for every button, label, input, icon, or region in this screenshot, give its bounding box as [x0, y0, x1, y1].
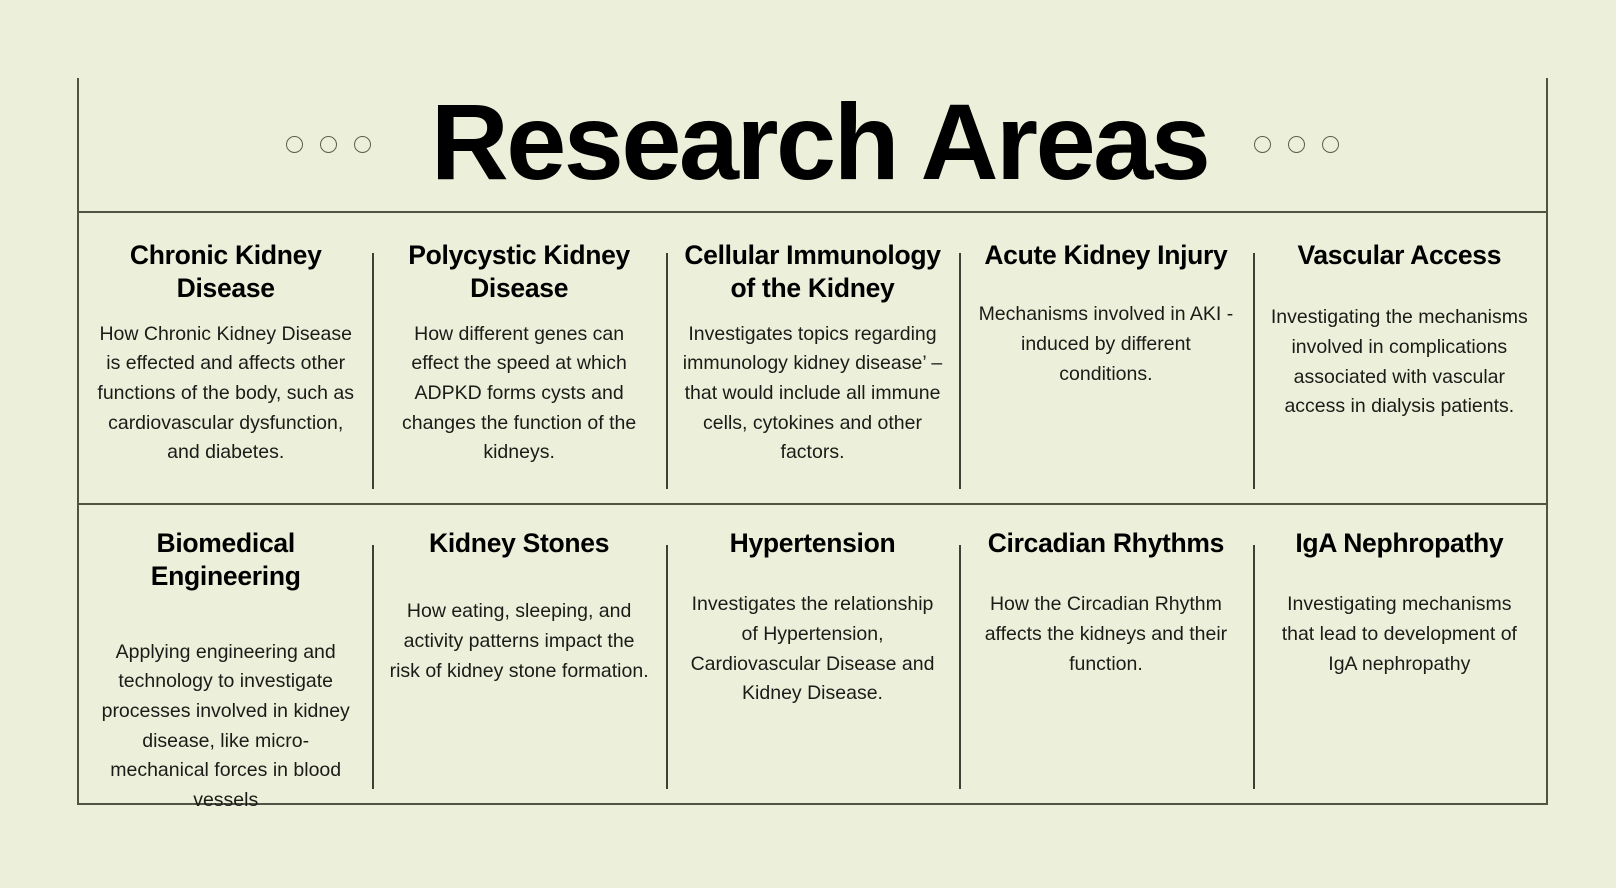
- card-description: Investigates topics regarding immunology…: [682, 320, 943, 468]
- card-title: Kidney Stones: [388, 527, 649, 560]
- card-description: Investigating mechanisms that lead to de…: [1269, 590, 1530, 679]
- card-description: Investigating the mechanisms involved in…: [1269, 303, 1530, 422]
- card-description: How the Circadian Rhythm affects the kid…: [975, 590, 1236, 679]
- research-area-row-2: Biomedical Engineering Applying engineer…: [79, 505, 1546, 803]
- research-area-card[interactable]: Cellular Immunology of the Kidney Invest…: [666, 213, 959, 503]
- circle-icon: [1322, 136, 1339, 153]
- card-description: How eating, sleeping, and activity patte…: [388, 597, 649, 686]
- circle-icon: [320, 136, 337, 153]
- card-title: Biomedical Engineering: [95, 527, 356, 594]
- card-title: Circadian Rhythms: [975, 527, 1236, 560]
- research-area-card[interactable]: Biomedical Engineering Applying engineer…: [79, 505, 372, 803]
- circle-icon: [1254, 136, 1271, 153]
- research-area-card[interactable]: Polycystic Kidney Disease How different …: [372, 213, 665, 503]
- card-title: Cellular Immunology of the Kidney: [682, 239, 943, 306]
- research-area-card[interactable]: IgA Nephropathy Investigating mechanisms…: [1253, 505, 1546, 803]
- card-title: Polycystic Kidney Disease: [388, 239, 649, 306]
- circle-icon: [286, 136, 303, 153]
- card-description: How different genes can effect the speed…: [388, 320, 649, 468]
- frame-rail-right: [1546, 78, 1548, 805]
- research-area-card[interactable]: Kidney Stones How eating, sleeping, and …: [372, 505, 665, 803]
- card-description: Mechanisms involved in AKI - induced by …: [975, 300, 1236, 389]
- poster-header: Research Areas: [79, 78, 1546, 211]
- card-title: IgA Nephropathy: [1269, 527, 1530, 560]
- card-description: How Chronic Kidney Disease is effected a…: [95, 320, 356, 468]
- research-area-card[interactable]: Circadian Rhythms How the Circadian Rhyt…: [959, 505, 1252, 803]
- decorative-dots-left: [286, 136, 371, 153]
- card-title: Hypertension: [682, 527, 943, 560]
- research-area-card[interactable]: Chronic Kidney Disease How Chronic Kidne…: [79, 213, 372, 503]
- card-title: Acute Kidney Injury: [975, 239, 1236, 272]
- decorative-dots-right: [1254, 136, 1339, 153]
- circle-icon: [1288, 136, 1305, 153]
- research-area-row-1: Chronic Kidney Disease How Chronic Kidne…: [79, 213, 1546, 503]
- research-areas-poster: Research Areas Chronic Kidney Disease Ho…: [0, 0, 1616, 888]
- card-title: Vascular Access: [1269, 239, 1530, 272]
- research-area-card[interactable]: Vascular Access Investigating the mechan…: [1253, 213, 1546, 503]
- research-area-card[interactable]: Hypertension Investigates the relationsh…: [666, 505, 959, 803]
- research-area-card[interactable]: Acute Kidney Injury Mechanisms involved …: [959, 213, 1252, 503]
- page-title: Research Areas: [431, 88, 1209, 202]
- circle-icon: [354, 136, 371, 153]
- card-description: Investigates the relationship of Hyperte…: [682, 590, 943, 709]
- card-title: Chronic Kidney Disease: [95, 239, 356, 306]
- card-description: Applying engineering and technology to i…: [95, 638, 356, 816]
